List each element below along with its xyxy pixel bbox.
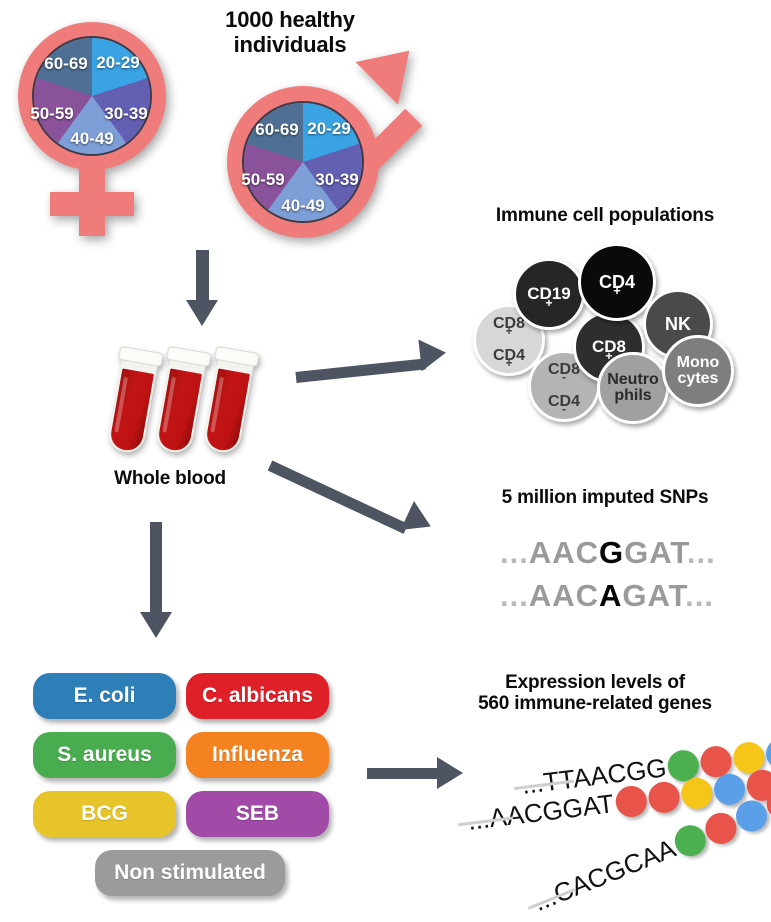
gene-bead [647, 780, 682, 815]
gene-bead [679, 776, 714, 811]
strand-sequence: ...CACGCAA [529, 833, 680, 918]
gene-bead [614, 784, 649, 819]
gene-bead [765, 736, 771, 771]
gene-bead [712, 772, 747, 807]
figure-canvas: 1000 healthyindividuals 20-29 30-39 40-4… [0, 0, 771, 922]
dna-strands-group: ...TTAACGG ...AACGGAT ...CACGCAA [0, 0, 771, 922]
